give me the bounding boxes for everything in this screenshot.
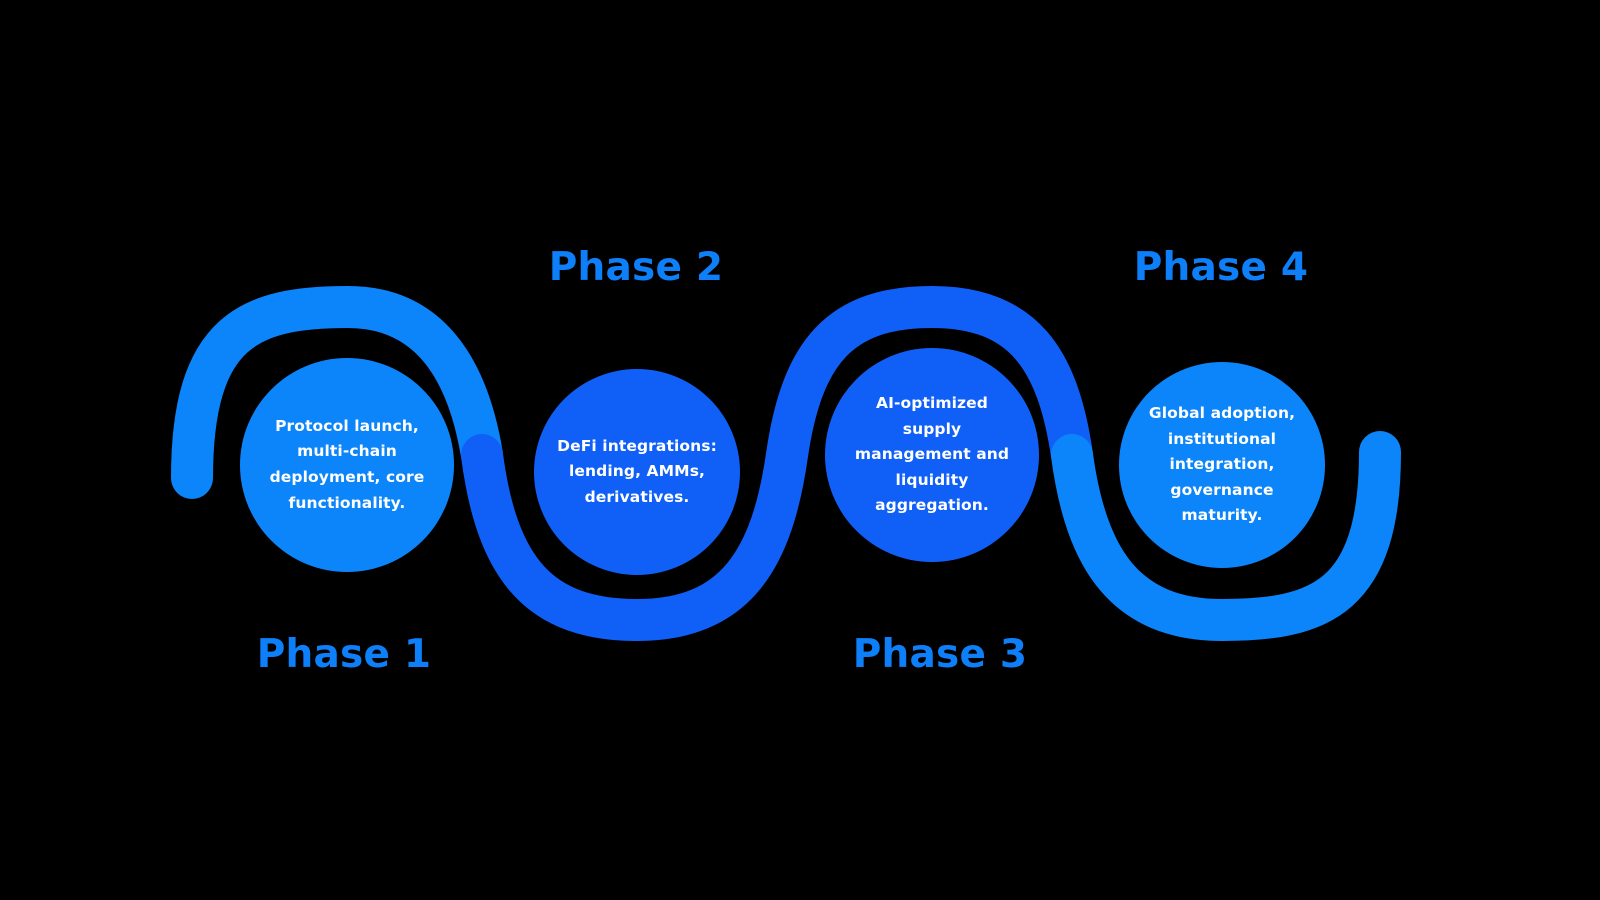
phase-label-3: Phase 3: [853, 632, 1027, 677]
phase-circle-3[interactable]: AI-optimized supply management and liqui…: [825, 348, 1039, 562]
phase-circle-1[interactable]: Protocol launch, multi-chain deployment,…: [240, 358, 454, 572]
phase-4-description: Global adoption, institutional integrati…: [1135, 401, 1309, 529]
phase-3-description: AI-optimized supply management and liqui…: [841, 391, 1023, 519]
phase-2-description: DeFi integrations: lending, AMMs, deriva…: [543, 434, 731, 511]
phase-circle-4[interactable]: Global adoption, institutional integrati…: [1119, 362, 1325, 568]
phase-circle-2[interactable]: DeFi integrations: lending, AMMs, deriva…: [534, 369, 740, 575]
phase-label-4: Phase 4: [1134, 245, 1308, 290]
phase-label-1: Phase 1: [257, 632, 431, 677]
roadmap-diagram: Protocol launch, multi-chain deployment,…: [0, 0, 1600, 900]
phase-label-2: Phase 2: [549, 245, 723, 290]
phase-1-description: Protocol launch, multi-chain deployment,…: [256, 414, 439, 516]
